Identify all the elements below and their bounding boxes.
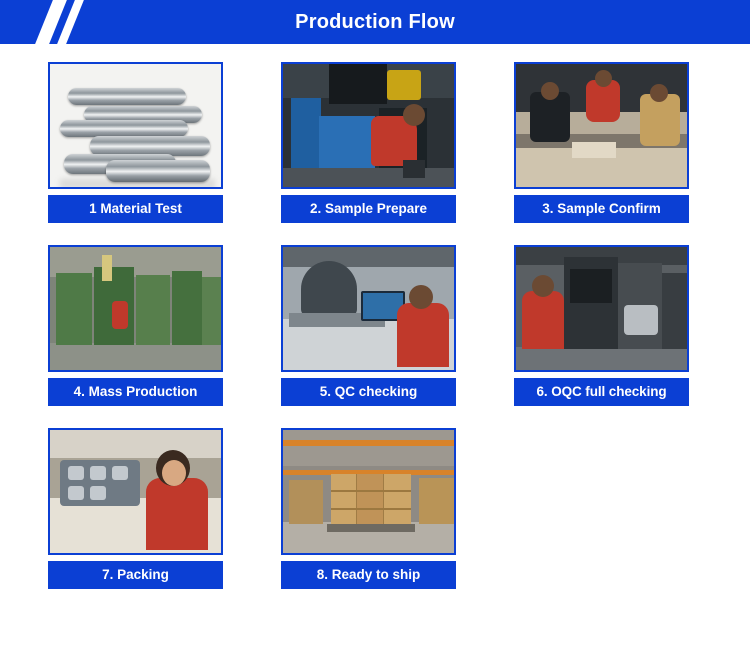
step-card-5: 5. QC checking [281, 245, 456, 406]
steps-row: 7. Packing [48, 428, 708, 589]
step-label-5: 5. QC checking [281, 378, 456, 406]
step-label-2: 2. Sample Prepare [281, 195, 456, 223]
page-title: Production Flow [0, 0, 750, 44]
step-card-8: 8. Ready to ship [281, 428, 456, 589]
step-label-6: 6. OQC full checking [514, 378, 689, 406]
step-card-7: 7. Packing [48, 428, 223, 589]
step-label-1: 1 Material Test [48, 195, 223, 223]
step-image-1 [48, 62, 223, 189]
page-header: Production Flow [0, 0, 750, 44]
steps-row: 4. Mass Production 5 [48, 245, 708, 406]
step-card-1: 1 Material Test [48, 62, 223, 223]
step-card-4: 4. Mass Production [48, 245, 223, 406]
production-flow-page: Production Flow 1 Material Test [0, 0, 750, 647]
step-image-8 [281, 428, 456, 555]
step-image-7 [48, 428, 223, 555]
step-card-2: 2. Sample Prepare [281, 62, 456, 223]
step-card-empty [514, 428, 689, 589]
step-image-3 [514, 62, 689, 189]
step-label-4: 4. Mass Production [48, 378, 223, 406]
step-label-3: 3. Sample Confirm [514, 195, 689, 223]
steps-grid: 1 Material Test [48, 62, 708, 611]
step-image-6 [514, 245, 689, 372]
step-card-6: 6. OQC full checking [514, 245, 689, 406]
step-label-7: 7. Packing [48, 561, 223, 589]
step-card-3: 3. Sample Confirm [514, 62, 689, 223]
step-image-2 [281, 62, 456, 189]
steps-row: 1 Material Test [48, 62, 708, 223]
step-image-5 [281, 245, 456, 372]
step-image-4 [48, 245, 223, 372]
step-label-8: 8. Ready to ship [281, 561, 456, 589]
